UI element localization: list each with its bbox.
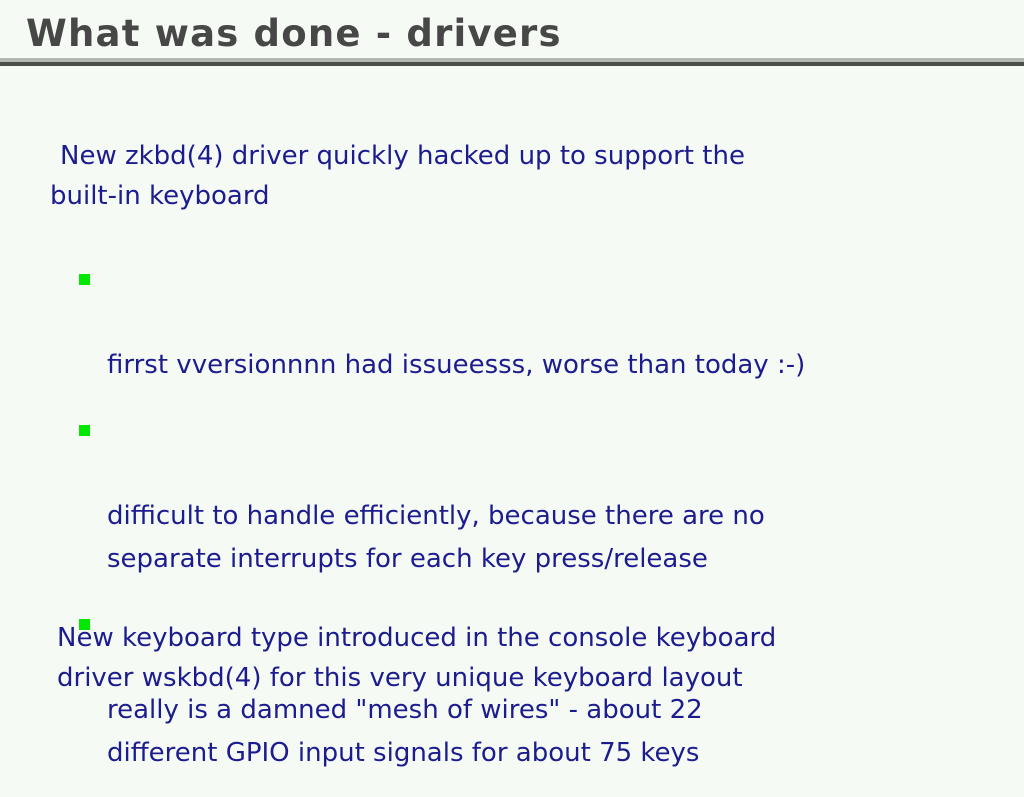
green-square-bullet-icon	[79, 274, 90, 285]
divider-dark-rule	[0, 62, 1024, 66]
slide-header: What was done - drivers	[0, 0, 1024, 64]
list-item: difficult to handle efficiently, because…	[79, 409, 979, 581]
list-item: firrst vversionnnn had issueesss, worse …	[79, 258, 979, 387]
bullet-list: firrst vversionnnn had issueesss, worse …	[79, 258, 979, 797]
slide-body: New zkbd(4) driver quickly hacked up to …	[0, 68, 1024, 768]
outro-paragraph: New keyboard type introduced in the cons…	[57, 618, 967, 698]
list-item-label: firrst vversionnnn had issueesss, worse …	[107, 350, 805, 380]
presentation-slide: What was done - drivers New zkbd(4) driv…	[0, 0, 1024, 768]
title-divider	[0, 58, 1024, 68]
green-square-bullet-icon	[79, 425, 90, 436]
list-item-label: difficult to handle efficiently, because…	[107, 501, 765, 574]
list-item-label: really is a damned "mesh of wires" - abo…	[107, 695, 703, 768]
page-title: What was done - drivers	[26, 12, 562, 56]
intro-paragraph: New zkbd(4) driver quickly hacked up to …	[50, 136, 950, 216]
